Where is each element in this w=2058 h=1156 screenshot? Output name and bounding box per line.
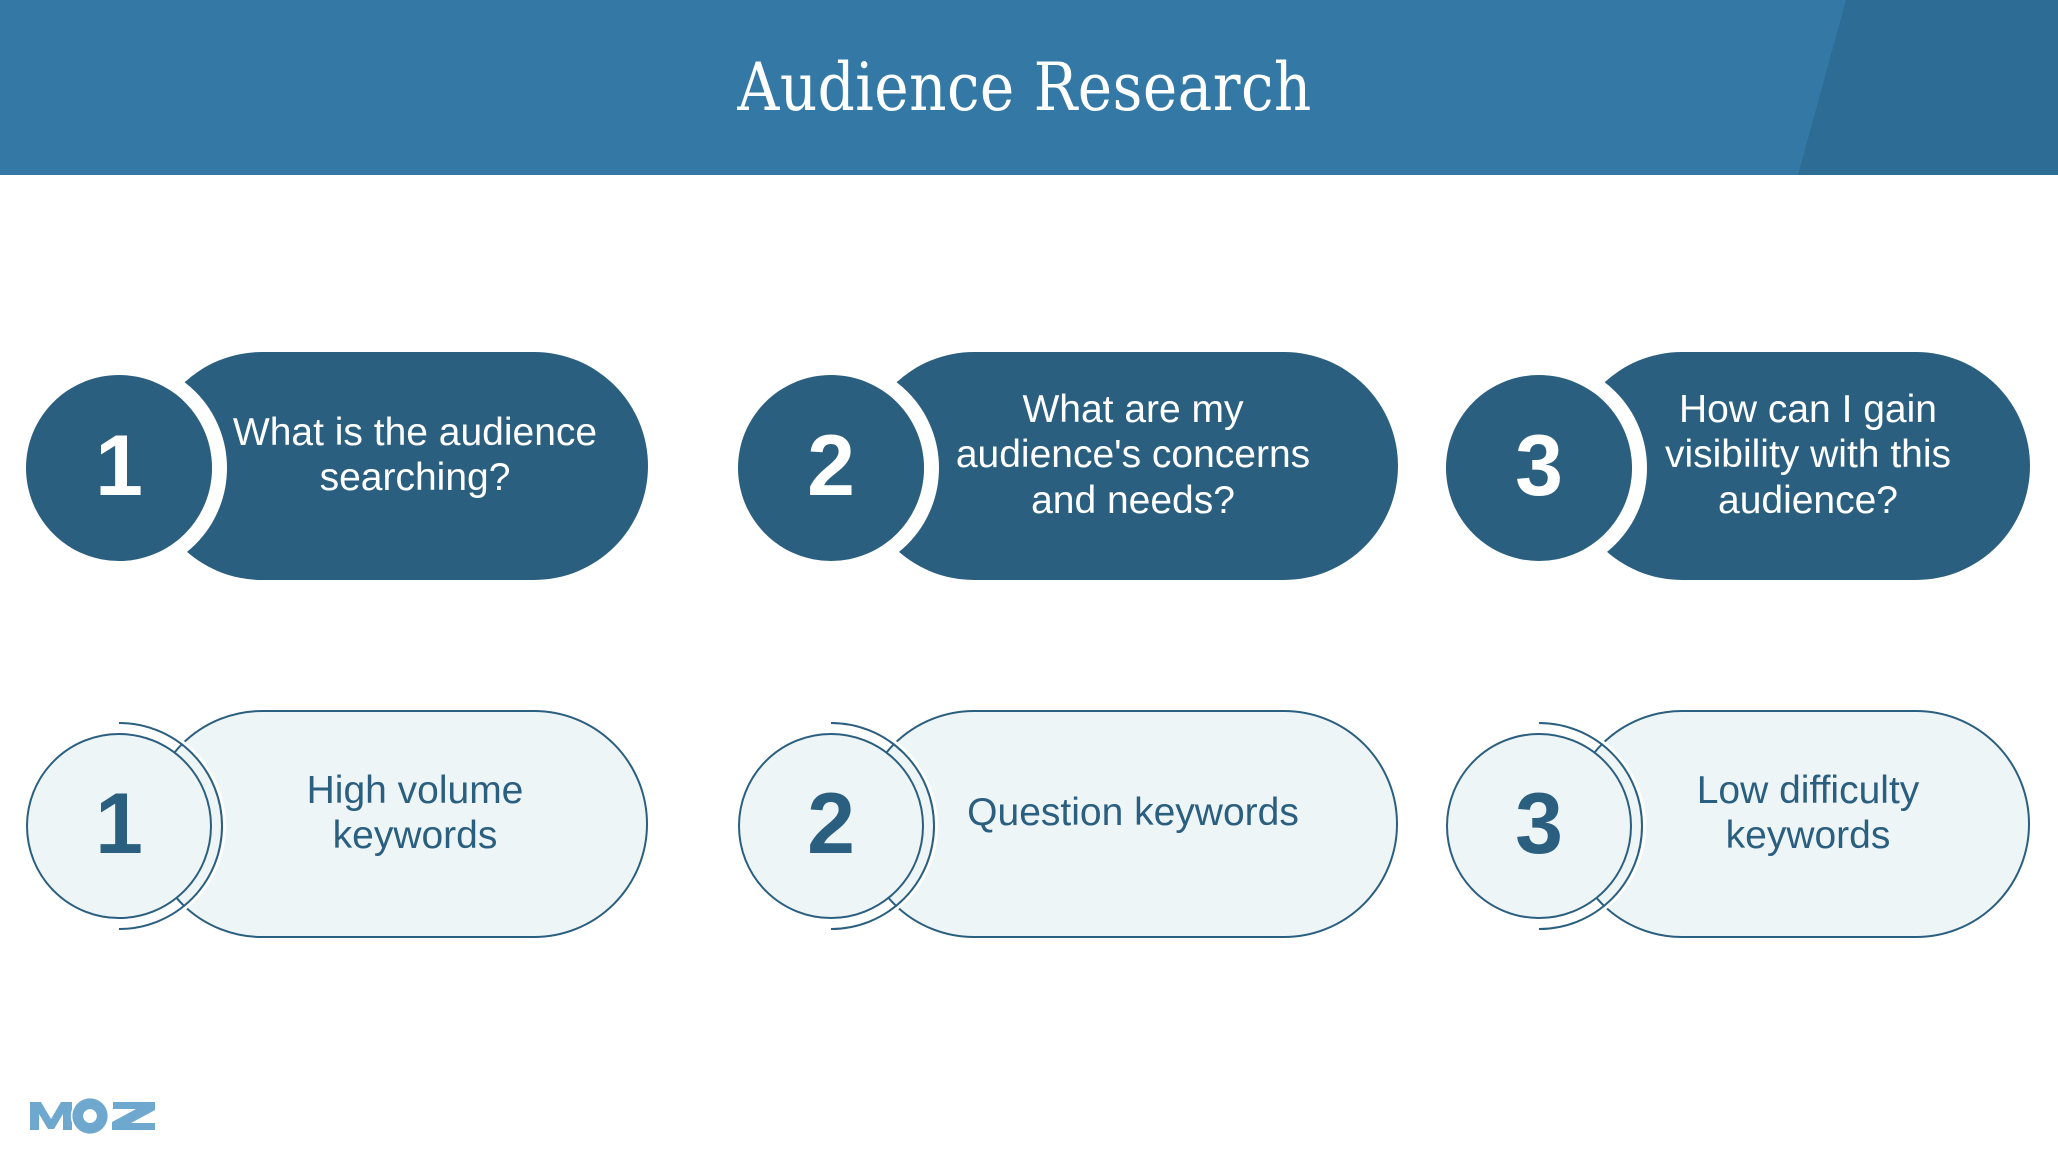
keyword-card-3-number-badge: 3 <box>1446 733 1632 919</box>
question-card-3-number: 3 <box>1515 423 1563 509</box>
keyword-card-2-label: Question keywords <box>918 688 1348 938</box>
question-card-1[interactable]: What is the audience searching? 1 <box>0 330 680 580</box>
keyword-card-3[interactable]: Low difficulty keywords 3 <box>1420 688 2058 938</box>
keyword-card-3-label: Low difficulty keywords <box>1598 688 2018 938</box>
question-card-3[interactable]: How can I gain visibility with this audi… <box>1420 330 2058 580</box>
keyword-card-2[interactable]: Question keywords 2 <box>712 688 1392 938</box>
questions-row: What is the audience searching? 1 What a… <box>0 330 2058 580</box>
keyword-card-3-number: 3 <box>1515 781 1563 867</box>
question-card-2-label: What are my audience's concerns and need… <box>918 330 1348 580</box>
keyword-card-1-number-badge: 1 <box>26 733 212 919</box>
page-title: Audience Research <box>123 0 1934 175</box>
keywords-row: High volume keywords 1 Question keywords… <box>0 688 2058 938</box>
question-card-2-number: 2 <box>807 423 855 509</box>
keyword-card-2-number-badge: 2 <box>738 733 924 919</box>
question-card-1-number-badge: 1 <box>26 375 212 561</box>
question-card-2[interactable]: What are my audience's concerns and need… <box>712 330 1392 580</box>
keyword-card-1[interactable]: High volume keywords 1 <box>0 688 680 938</box>
question-card-2-number-badge: 2 <box>738 375 924 561</box>
keyword-card-2-number: 2 <box>807 781 855 867</box>
question-card-3-label: How can I gain visibility with this audi… <box>1598 330 2018 580</box>
keyword-card-1-label: High volume keywords <box>215 688 615 938</box>
keyword-card-1-number: 1 <box>95 781 143 867</box>
moz-logo: MOZ <box>28 1092 158 1140</box>
question-card-1-label: What is the audience searching? <box>215 330 615 580</box>
question-card-3-number-badge: 3 <box>1446 375 1632 561</box>
question-card-1-number: 1 <box>95 423 143 509</box>
